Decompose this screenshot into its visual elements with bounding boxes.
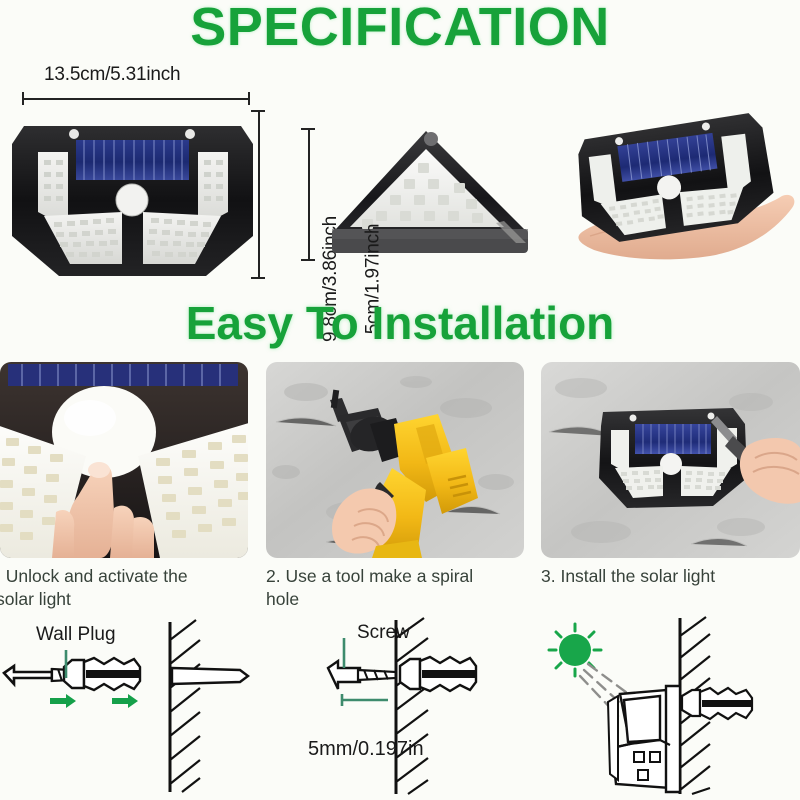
screw-depth-label: 5mm/0.197in [308, 738, 424, 761]
screw-diagram: Screw [300, 612, 540, 800]
install-photo-step-3 [541, 362, 800, 558]
install-photo-step-2 [266, 362, 524, 558]
dimension-label-width: 13.5cm/5.31inch [44, 64, 180, 86]
wall-plug-label: Wall Plug [36, 624, 116, 646]
dimension-line-width [22, 98, 250, 100]
installation-title: Easy To Installation [0, 296, 800, 350]
dimension-line-depth [308, 128, 310, 260]
screw-label: Screw [357, 622, 410, 644]
dimension-cap-depth-bottom [301, 259, 315, 261]
product-specification-page: SPECIFICATION 13.5cm/5.31inch [0, 0, 800, 800]
install-caption-step-3: 3. Install the solar light [541, 565, 791, 588]
dimension-line-height [258, 110, 260, 278]
dimension-cap-left [22, 92, 24, 105]
install-caption-step-1: . Unlock and activate the solar light [0, 565, 226, 611]
dimension-cap-top [251, 110, 265, 112]
specification-title: SPECIFICATION [0, 0, 800, 58]
install-caption-step-2: 2. Use a tool make a spiral hole [266, 565, 501, 611]
mounted-lamp-diagram [520, 612, 800, 800]
install-photo-step-1 [0, 362, 248, 558]
dimension-cap-depth-top [301, 128, 315, 130]
wall-plug-diagram: Wall Plug [0, 612, 300, 800]
hand-held-lamp [560, 110, 800, 285]
dimension-cap-right [248, 92, 250, 105]
bottom-view-lamp [318, 125, 543, 265]
dimension-cap-bottom [251, 277, 265, 279]
front-view-lamp [10, 108, 255, 278]
